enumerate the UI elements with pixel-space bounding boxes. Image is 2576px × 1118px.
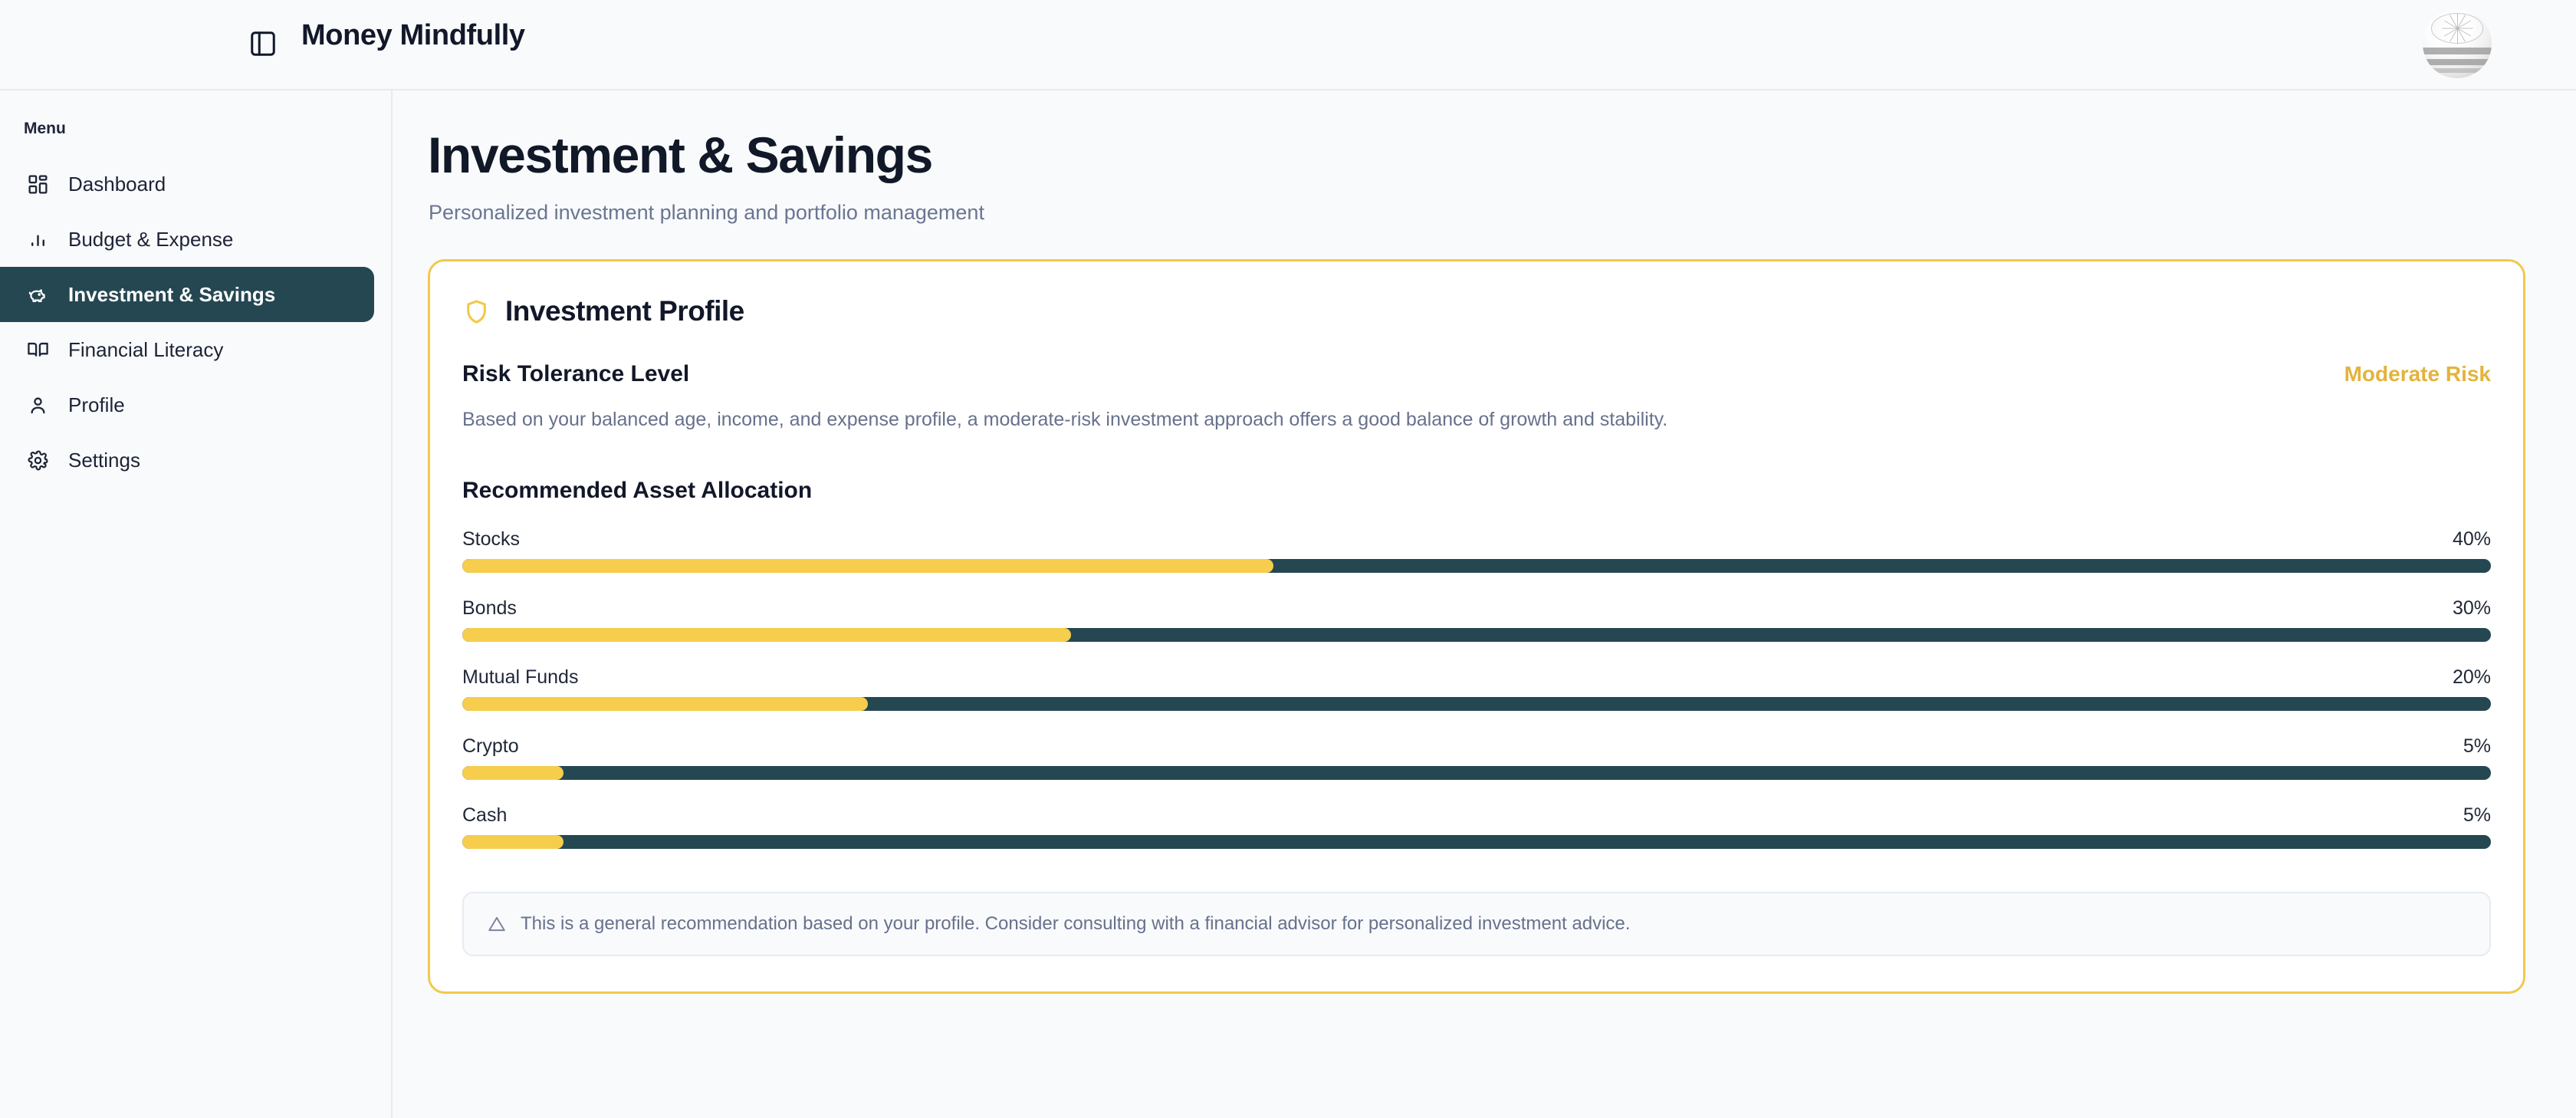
allocation-row: Mutual Funds 20% xyxy=(462,666,2491,711)
risk-level-badge: Moderate Risk xyxy=(2344,362,2491,386)
sidebar-toggle-icon xyxy=(248,29,278,62)
allocation-bar-track xyxy=(462,559,2491,573)
allocation-row: Crypto 5% xyxy=(462,735,2491,780)
disclaimer-text: This is a general recommendation based o… xyxy=(521,913,1630,935)
allocation-bar-fill xyxy=(462,697,868,711)
sidebar-item-label: Budget & Expense xyxy=(68,228,233,252)
card-header: Investment Profile xyxy=(462,295,2491,327)
allocation-percent: 5% xyxy=(2463,804,2491,827)
allocation-row: Bonds 30% xyxy=(462,597,2491,642)
top-bar: Money Mindfully xyxy=(0,0,2576,90)
allocation-bar-fill xyxy=(462,628,1071,642)
gear-icon xyxy=(24,446,51,474)
sidebar-item-financial-literacy[interactable]: Financial Literacy xyxy=(0,322,374,377)
allocation-row: Stocks 40% xyxy=(462,528,2491,573)
app-title: Money Mindfully xyxy=(301,19,525,52)
main-content: Investment & Savings Personalized invest… xyxy=(394,90,2576,1118)
allocation-bar-track xyxy=(462,835,2491,849)
sidebar-item-dashboard[interactable]: Dashboard xyxy=(0,156,374,212)
risk-tolerance-row: Risk Tolerance Level Moderate Risk xyxy=(462,361,2491,387)
allocation-bar-fill xyxy=(462,766,563,780)
avatar[interactable] xyxy=(2423,9,2492,78)
sidebar-item-label: Dashboard xyxy=(68,173,166,196)
sidebar-toggle-button[interactable] xyxy=(245,28,281,63)
sidebar-section-label: Menu xyxy=(24,120,391,138)
risk-description: Based on your balanced age, income, and … xyxy=(462,407,2491,433)
page-title: Investment & Savings xyxy=(428,126,2515,184)
disclaimer-box: This is a general recommendation based o… xyxy=(462,892,2491,956)
allocation-bar-fill xyxy=(462,835,563,849)
allocation-label: Crypto xyxy=(462,735,519,758)
allocation-section-title: Recommended Asset Allocation xyxy=(462,478,2491,504)
sidebar: Menu Dashboard Budget & Expense xyxy=(0,90,393,1118)
bar-chart-icon xyxy=(24,225,51,253)
sidebar-item-budget-expense[interactable]: Budget & Expense xyxy=(0,212,374,267)
card-title: Investment Profile xyxy=(505,295,744,327)
book-open-icon xyxy=(24,336,51,363)
avatar-dome xyxy=(2431,13,2483,44)
investment-profile-card: Investment Profile Risk Tolerance Level … xyxy=(428,259,2525,994)
warning-triangle-icon xyxy=(487,914,507,934)
allocation-row: Cash 5% xyxy=(462,804,2491,849)
sidebar-item-label: Financial Literacy xyxy=(68,338,223,362)
allocation-label: Bonds xyxy=(462,597,517,620)
page-subtitle: Personalized investment planning and por… xyxy=(429,201,2515,225)
allocation-bar-fill xyxy=(462,559,1273,573)
sidebar-item-label: Settings xyxy=(68,449,140,472)
user-icon xyxy=(24,391,51,419)
allocation-bar-track xyxy=(462,766,2491,780)
shield-icon xyxy=(462,298,491,326)
sidebar-item-profile[interactable]: Profile xyxy=(0,377,374,432)
sidebar-item-label: Investment & Savings xyxy=(68,283,275,307)
allocation-percent: 40% xyxy=(2453,528,2491,551)
sidebar-item-settings[interactable]: Settings xyxy=(0,432,374,488)
sidebar-item-label: Profile xyxy=(68,393,125,417)
allocation-bar-track xyxy=(462,697,2491,711)
allocation-bar-track xyxy=(462,628,2491,642)
allocation-percent: 5% xyxy=(2463,735,2491,758)
sidebar-item-investment-savings[interactable]: Investment & Savings xyxy=(0,267,374,322)
allocation-percent: 30% xyxy=(2453,597,2491,620)
risk-tolerance-label: Risk Tolerance Level xyxy=(462,361,689,387)
allocation-label: Mutual Funds xyxy=(462,666,578,689)
allocation-percent: 20% xyxy=(2453,666,2491,689)
asset-allocation-list: Stocks 40% Bonds 30% Mutual Funds xyxy=(462,528,2491,849)
piggy-bank-icon xyxy=(24,281,51,308)
allocation-label: Stocks xyxy=(462,528,520,551)
grid-icon xyxy=(24,170,51,198)
allocation-label: Cash xyxy=(462,804,507,827)
